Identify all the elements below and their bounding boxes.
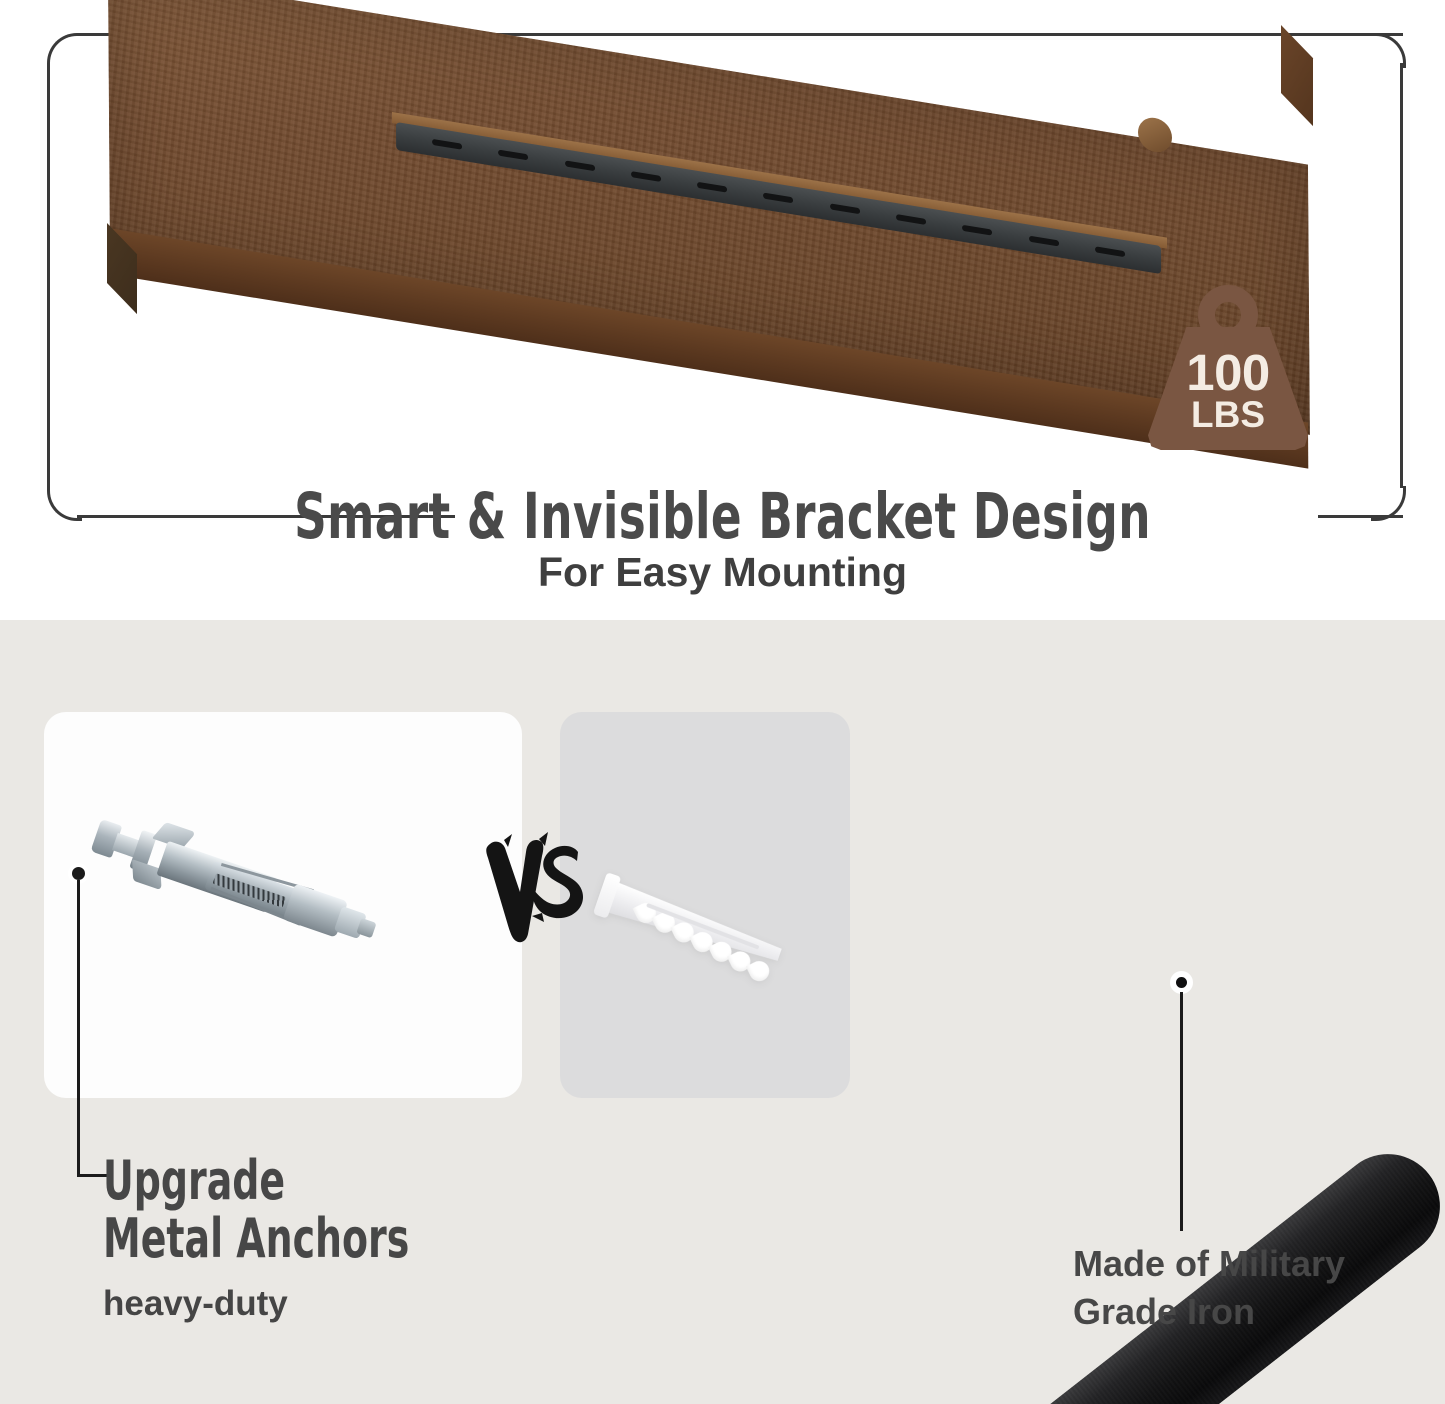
bracket-slot	[697, 182, 727, 193]
bracket-slot	[631, 171, 661, 182]
bracket-slot	[896, 214, 926, 225]
iron-pipe-caption-line2: Grade Iron	[1073, 1288, 1345, 1336]
section-headline: Smart & Invisible Bracket Design	[145, 480, 1301, 553]
versus-icon	[482, 830, 592, 950]
iron-pipe-leader-line	[1180, 992, 1183, 1231]
iron-pipe-caption-line1: Made of Military	[1073, 1240, 1345, 1288]
metal-anchor-leader-line	[77, 880, 80, 1177]
floating-shelf-image	[108, 0, 1323, 440]
section-subtitle: For Easy Mounting	[0, 549, 1445, 596]
bracket-slot	[764, 193, 794, 204]
frame-border-left	[47, 63, 50, 488]
frame-corner-top-right	[1371, 33, 1406, 68]
bracket-slot	[830, 203, 860, 214]
bracket-slot	[498, 150, 528, 161]
metal-anchor-caption-subtext: heavy-duty	[103, 1284, 496, 1324]
bracket-slot	[962, 225, 992, 236]
iron-pipe-callout-ring-icon	[1170, 971, 1193, 994]
bracket-slot	[565, 160, 595, 171]
bracket-design-panel: 100 LBS Smart & Invisible Bracket Design…	[0, 0, 1445, 620]
weight-capacity-badge-icon: 100 LBS	[1148, 285, 1308, 450]
shelf-right-end-cap	[1281, 25, 1313, 126]
weight-badge-unit: LBS	[1191, 396, 1265, 433]
weight-badge-value: 100	[1186, 350, 1270, 397]
metal-anchor-caption-line1: Upgrade	[103, 1152, 409, 1210]
iron-pipe-caption: Made of Military Grade Iron	[1073, 1240, 1345, 1335]
bracket-slot	[1095, 246, 1125, 257]
bracket-slot	[1029, 236, 1059, 247]
frame-corner-bottom-left	[47, 486, 82, 521]
weight-badge-body: 100 LBS	[1148, 327, 1308, 450]
bracket-slot	[432, 139, 462, 150]
metal-anchor-caption-line2: Metal Anchors	[103, 1210, 409, 1268]
frame-corner-top-left	[47, 33, 82, 68]
frame-border-right	[1400, 63, 1403, 488]
metal-anchor-caption: Upgrade Metal Anchors heavy-duty	[103, 1152, 496, 1324]
